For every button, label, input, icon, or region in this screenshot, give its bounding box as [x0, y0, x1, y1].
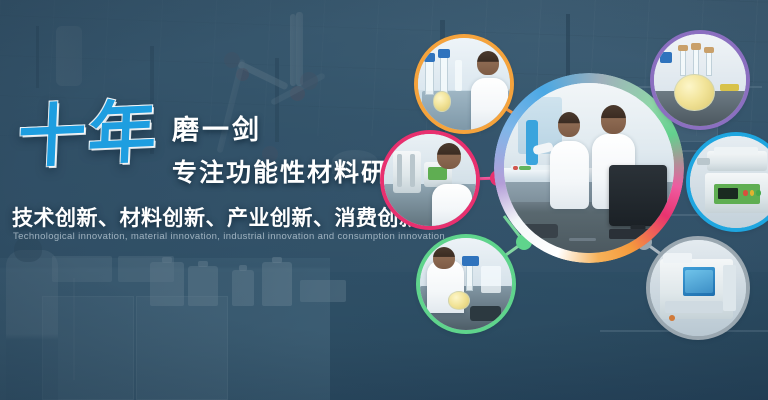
- center-circle-photo: [504, 83, 674, 253]
- headline-line-2: 专注功能性材料研发: [172, 153, 415, 189]
- satellite-circle-right: [690, 136, 768, 228]
- headline-row: 十年 磨一剑 专注功能性材料研发: [18, 104, 415, 189]
- satellite-circle-bottom-right: [650, 240, 746, 336]
- tagline-english: Technological innovation, material innov…: [13, 231, 445, 242]
- satellite-circle-top-right: [654, 34, 746, 126]
- circle-collage: [398, 20, 768, 380]
- headline-lines: 磨一剑 专注功能性材料研发: [172, 104, 415, 189]
- brush-headline: 十年: [16, 101, 159, 170]
- headline-line-1: 磨一剑: [172, 108, 415, 147]
- satellite-circle-left: [384, 134, 476, 226]
- satellite-circle-bottom-left: [420, 238, 512, 330]
- tagline-chinese: 技术创新、材料创新、产业创新、消费创新: [12, 202, 421, 232]
- center-circle: [504, 83, 674, 253]
- satellite-circle-top-left: [418, 38, 510, 130]
- promo-banner: 十年 磨一剑 专注功能性材料研发 技术创新、材料创新、产业创新、消费创新 Tec…: [0, 0, 768, 400]
- headline-block: 十年 磨一剑 专注功能性材料研发 技术创新、材料创新、产业创新、消费创新 Tec…: [0, 0, 420, 400]
